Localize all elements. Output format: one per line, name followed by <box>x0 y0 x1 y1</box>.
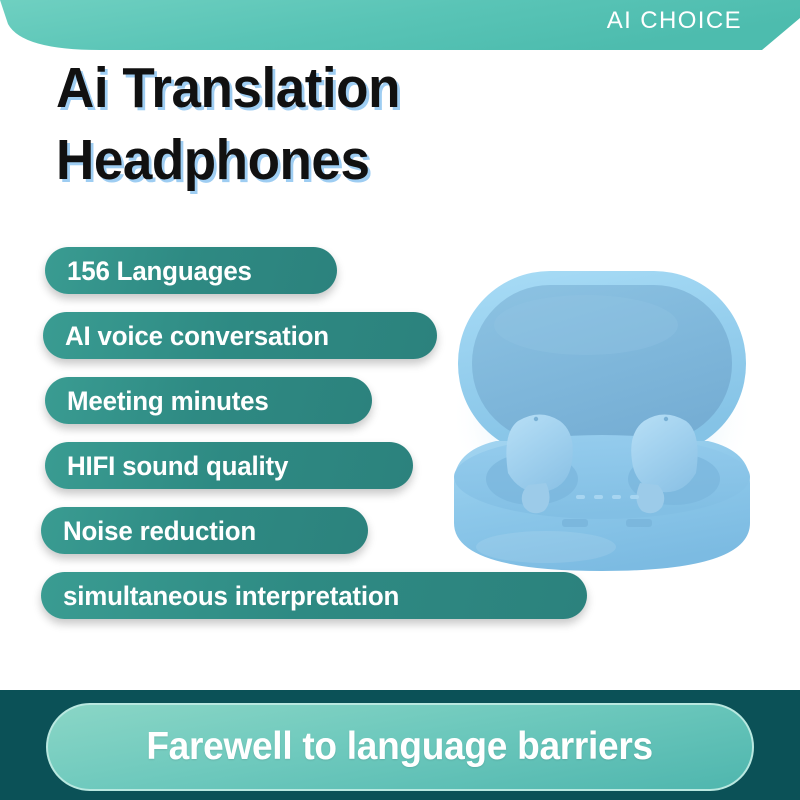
feature-pill-languages[interactable]: 156 Languages <box>45 247 337 294</box>
feature-list: 156 Languages AI voice conversation Meet… <box>0 247 640 637</box>
top-banner: AI CHOICE <box>0 0 800 52</box>
ai-choice-badge: AI CHOICE <box>607 7 742 35</box>
feature-pill-simultaneous-interpretation[interactable]: simultaneous interpretation <box>41 572 587 619</box>
feature-label: AI voice conversation <box>65 321 329 351</box>
title-line-2: Headphones <box>56 124 577 196</box>
feature-label: Noise reduction <box>63 516 256 546</box>
feature-label: HIFI sound quality <box>67 451 288 481</box>
footer-band: Farewell to language barriers <box>0 690 800 800</box>
feature-label: Meeting minutes <box>67 386 269 416</box>
feature-pill-hifi-sound[interactable]: HIFI sound quality <box>45 442 413 489</box>
tagline-text: Farewell to language barriers <box>147 725 653 769</box>
page-title: Ai Translation Headphones <box>56 52 616 196</box>
product-advertisement-poster: AI CHOICE Ai Translation Headphones <box>0 0 800 800</box>
tagline-pill[interactable]: Farewell to language barriers <box>46 703 754 791</box>
feature-pill-noise-reduction[interactable]: Noise reduction <box>41 507 368 554</box>
feature-pill-meeting-minutes[interactable]: Meeting minutes <box>45 377 372 424</box>
feature-label: simultaneous interpretation <box>63 581 399 611</box>
feature-pill-voice-conversation[interactable]: AI voice conversation <box>43 312 437 359</box>
feature-label: 156 Languages <box>67 256 252 286</box>
title-line-1: Ai Translation <box>56 52 577 124</box>
